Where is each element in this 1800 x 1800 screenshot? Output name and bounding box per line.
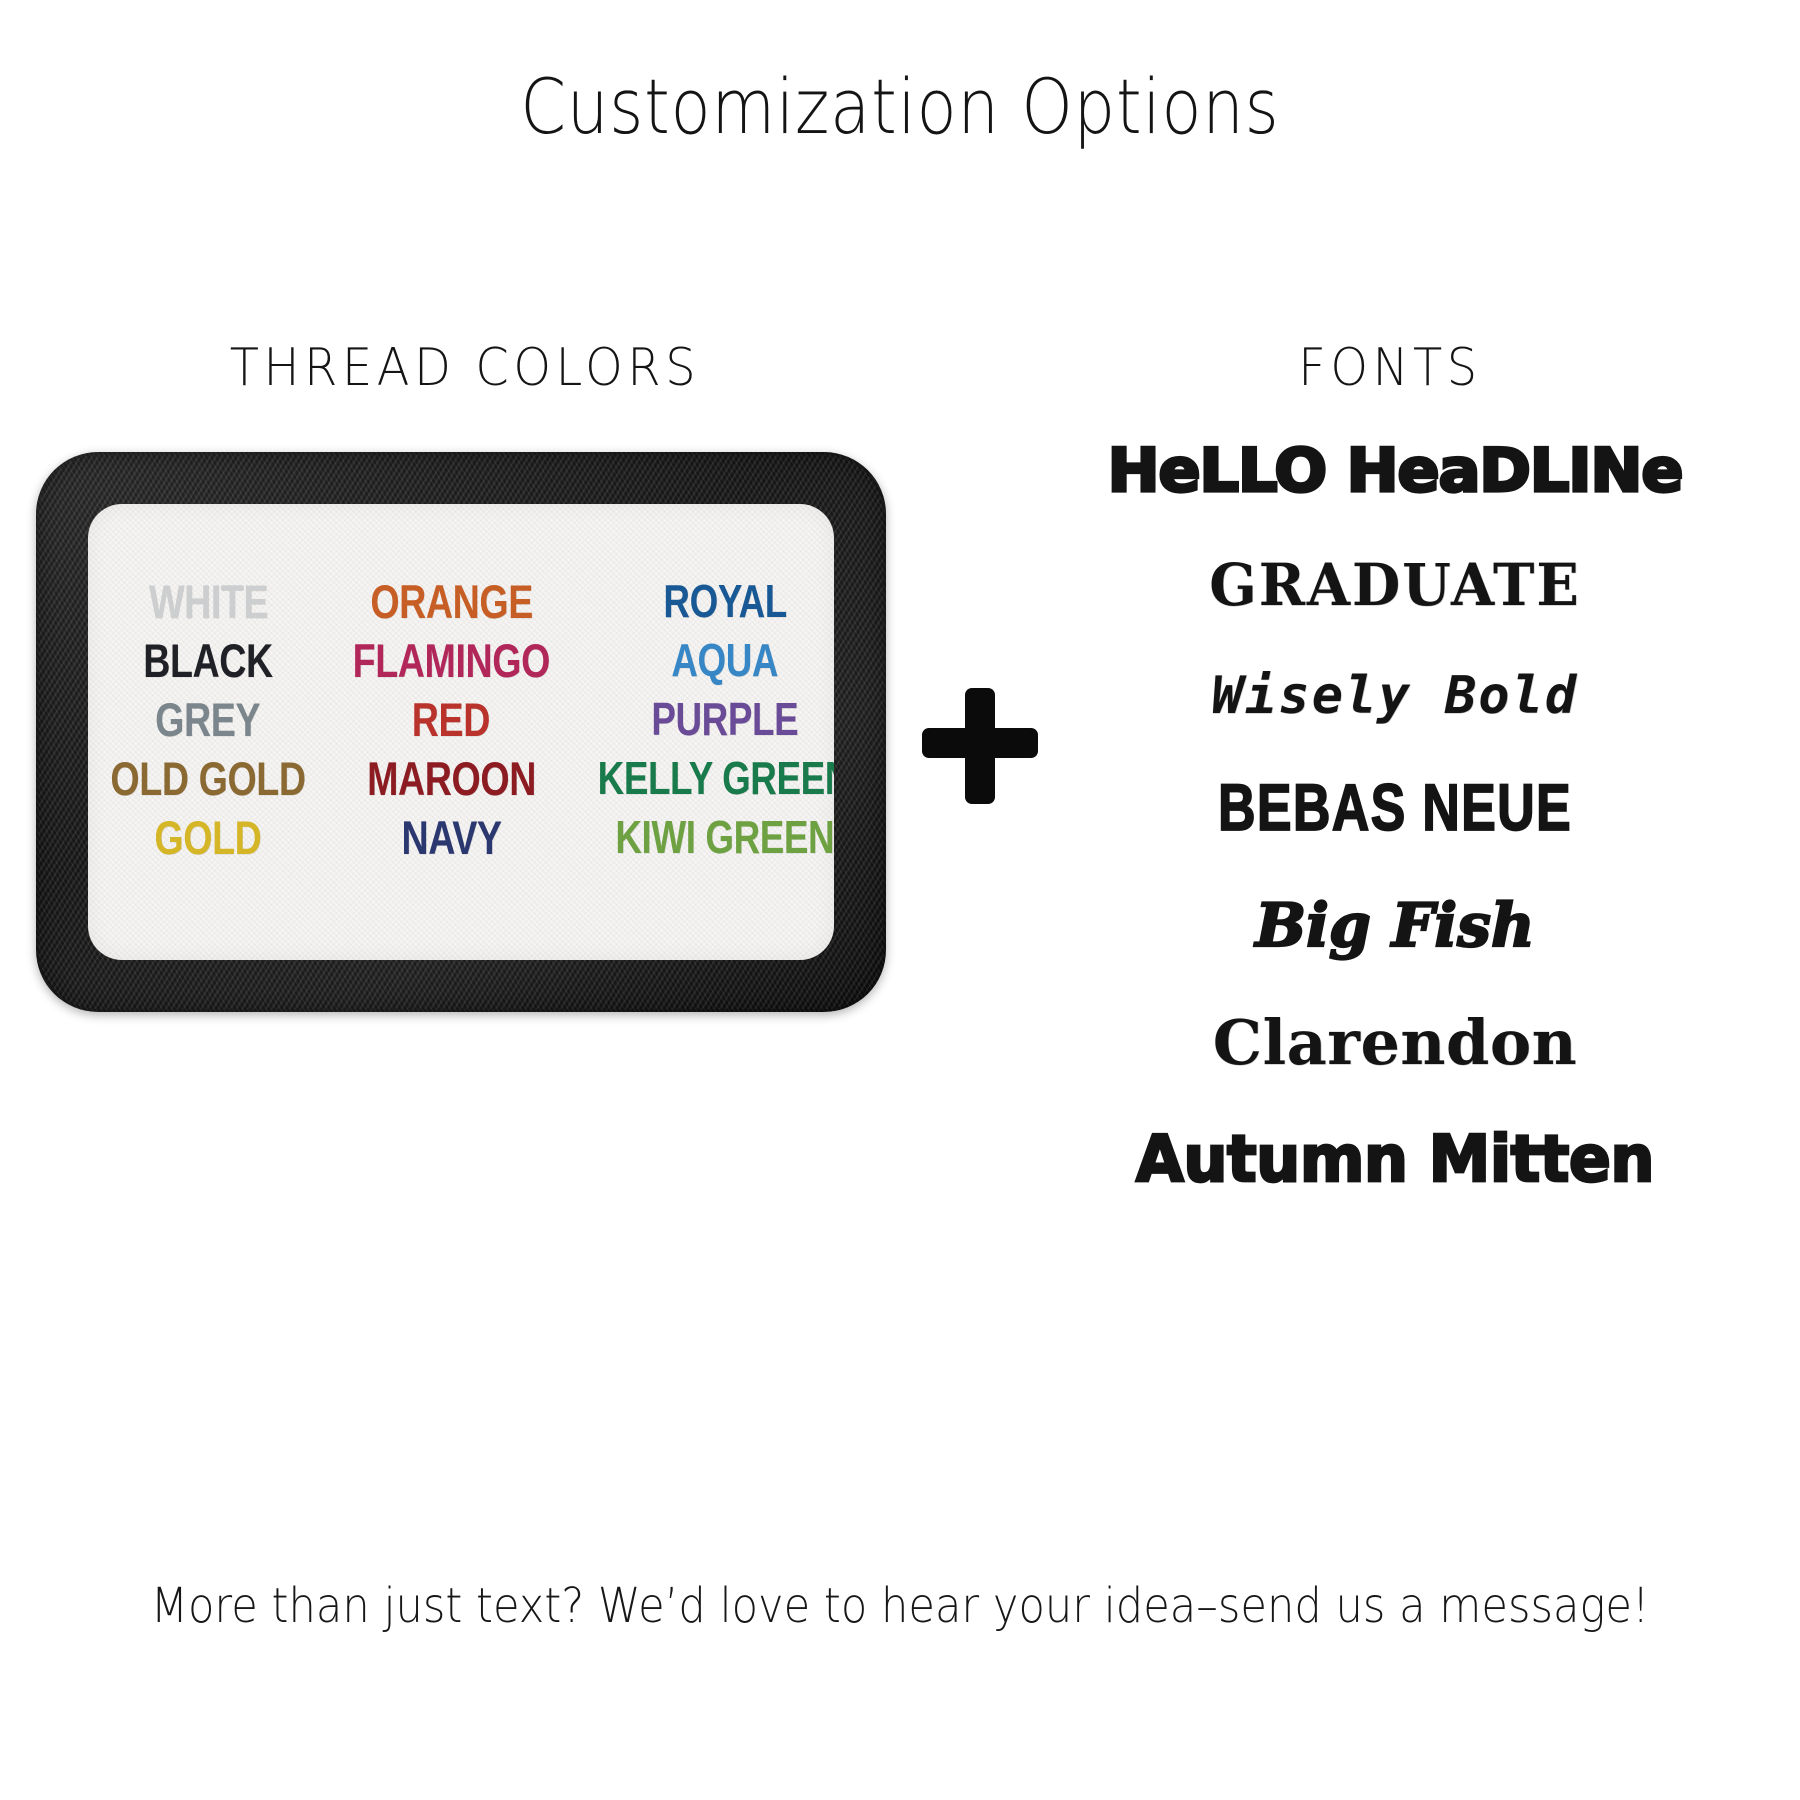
thread-color-red: RED (412, 690, 490, 749)
patch-face: WHITE BLACK GREY OLD GOLD GOLD ORANGE FL… (88, 504, 834, 960)
font-sample-graduate: GRADUATE (1006, 556, 1784, 614)
thread-colors-heading: THREAD COLORS (37, 338, 893, 398)
thread-color-kiwi-green: KIWI GREEN (615, 808, 834, 867)
thread-color-white: WHITE (148, 572, 267, 631)
thread-color-grey: GREY (156, 690, 261, 749)
thread-color-column-1: WHITE BLACK GREY OLD GOLD GOLD (88, 572, 328, 867)
font-sample-bebas-neue: BEBAS NEUE (1055, 776, 1735, 842)
thread-color-black: BLACK (143, 631, 273, 690)
thread-color-grid: WHITE BLACK GREY OLD GOLD GOLD ORANGE FL… (88, 572, 834, 867)
thread-color-maroon: MAROON (367, 749, 536, 808)
thread-color-purple: PURPLE (651, 690, 798, 749)
thread-color-orange: ORANGE (370, 572, 533, 631)
thread-color-aqua: AQUA (671, 631, 778, 690)
thread-color-royal: ROYAL (663, 572, 786, 631)
thread-color-flamingo: FLAMINGO (353, 631, 550, 690)
thread-color-gold: GOLD (154, 808, 261, 867)
thread-color-column-2: ORANGE FLAMINGO RED MAROON NAVY (328, 572, 575, 867)
font-sample-list: HeLLO HeaDLINe GRADUATE Wisely Bold BEBA… (990, 440, 1800, 1190)
embroidered-patch: WHITE BLACK GREY OLD GOLD GOLD ORANGE FL… (36, 452, 886, 1012)
thread-color-old-gold: OLD GOLD (110, 749, 305, 808)
font-sample-clarendon: Clarendon (990, 1012, 1800, 1074)
font-sample-wisely-bold: Wisely Bold (990, 670, 1800, 722)
thread-color-navy: NAVY (401, 808, 501, 867)
font-sample-hello-headline: HeLLO HeaDLINe (990, 441, 1800, 501)
fonts-heading: FONTS (1013, 338, 1767, 398)
page-title: Customization Options (126, 62, 1674, 151)
footer-note: More than just text? We’d love to hear y… (90, 1578, 1710, 1634)
thread-color-column-3: ROYAL AQUA PURPLE KELLY GREEN KIWI GREEN (575, 572, 834, 867)
font-sample-autumn-mitten: Autumn Mitten (990, 1127, 1800, 1191)
thread-color-kelly-green: KELLY GREEN (598, 749, 834, 808)
font-sample-big-fish: Big Fish (990, 896, 1800, 956)
